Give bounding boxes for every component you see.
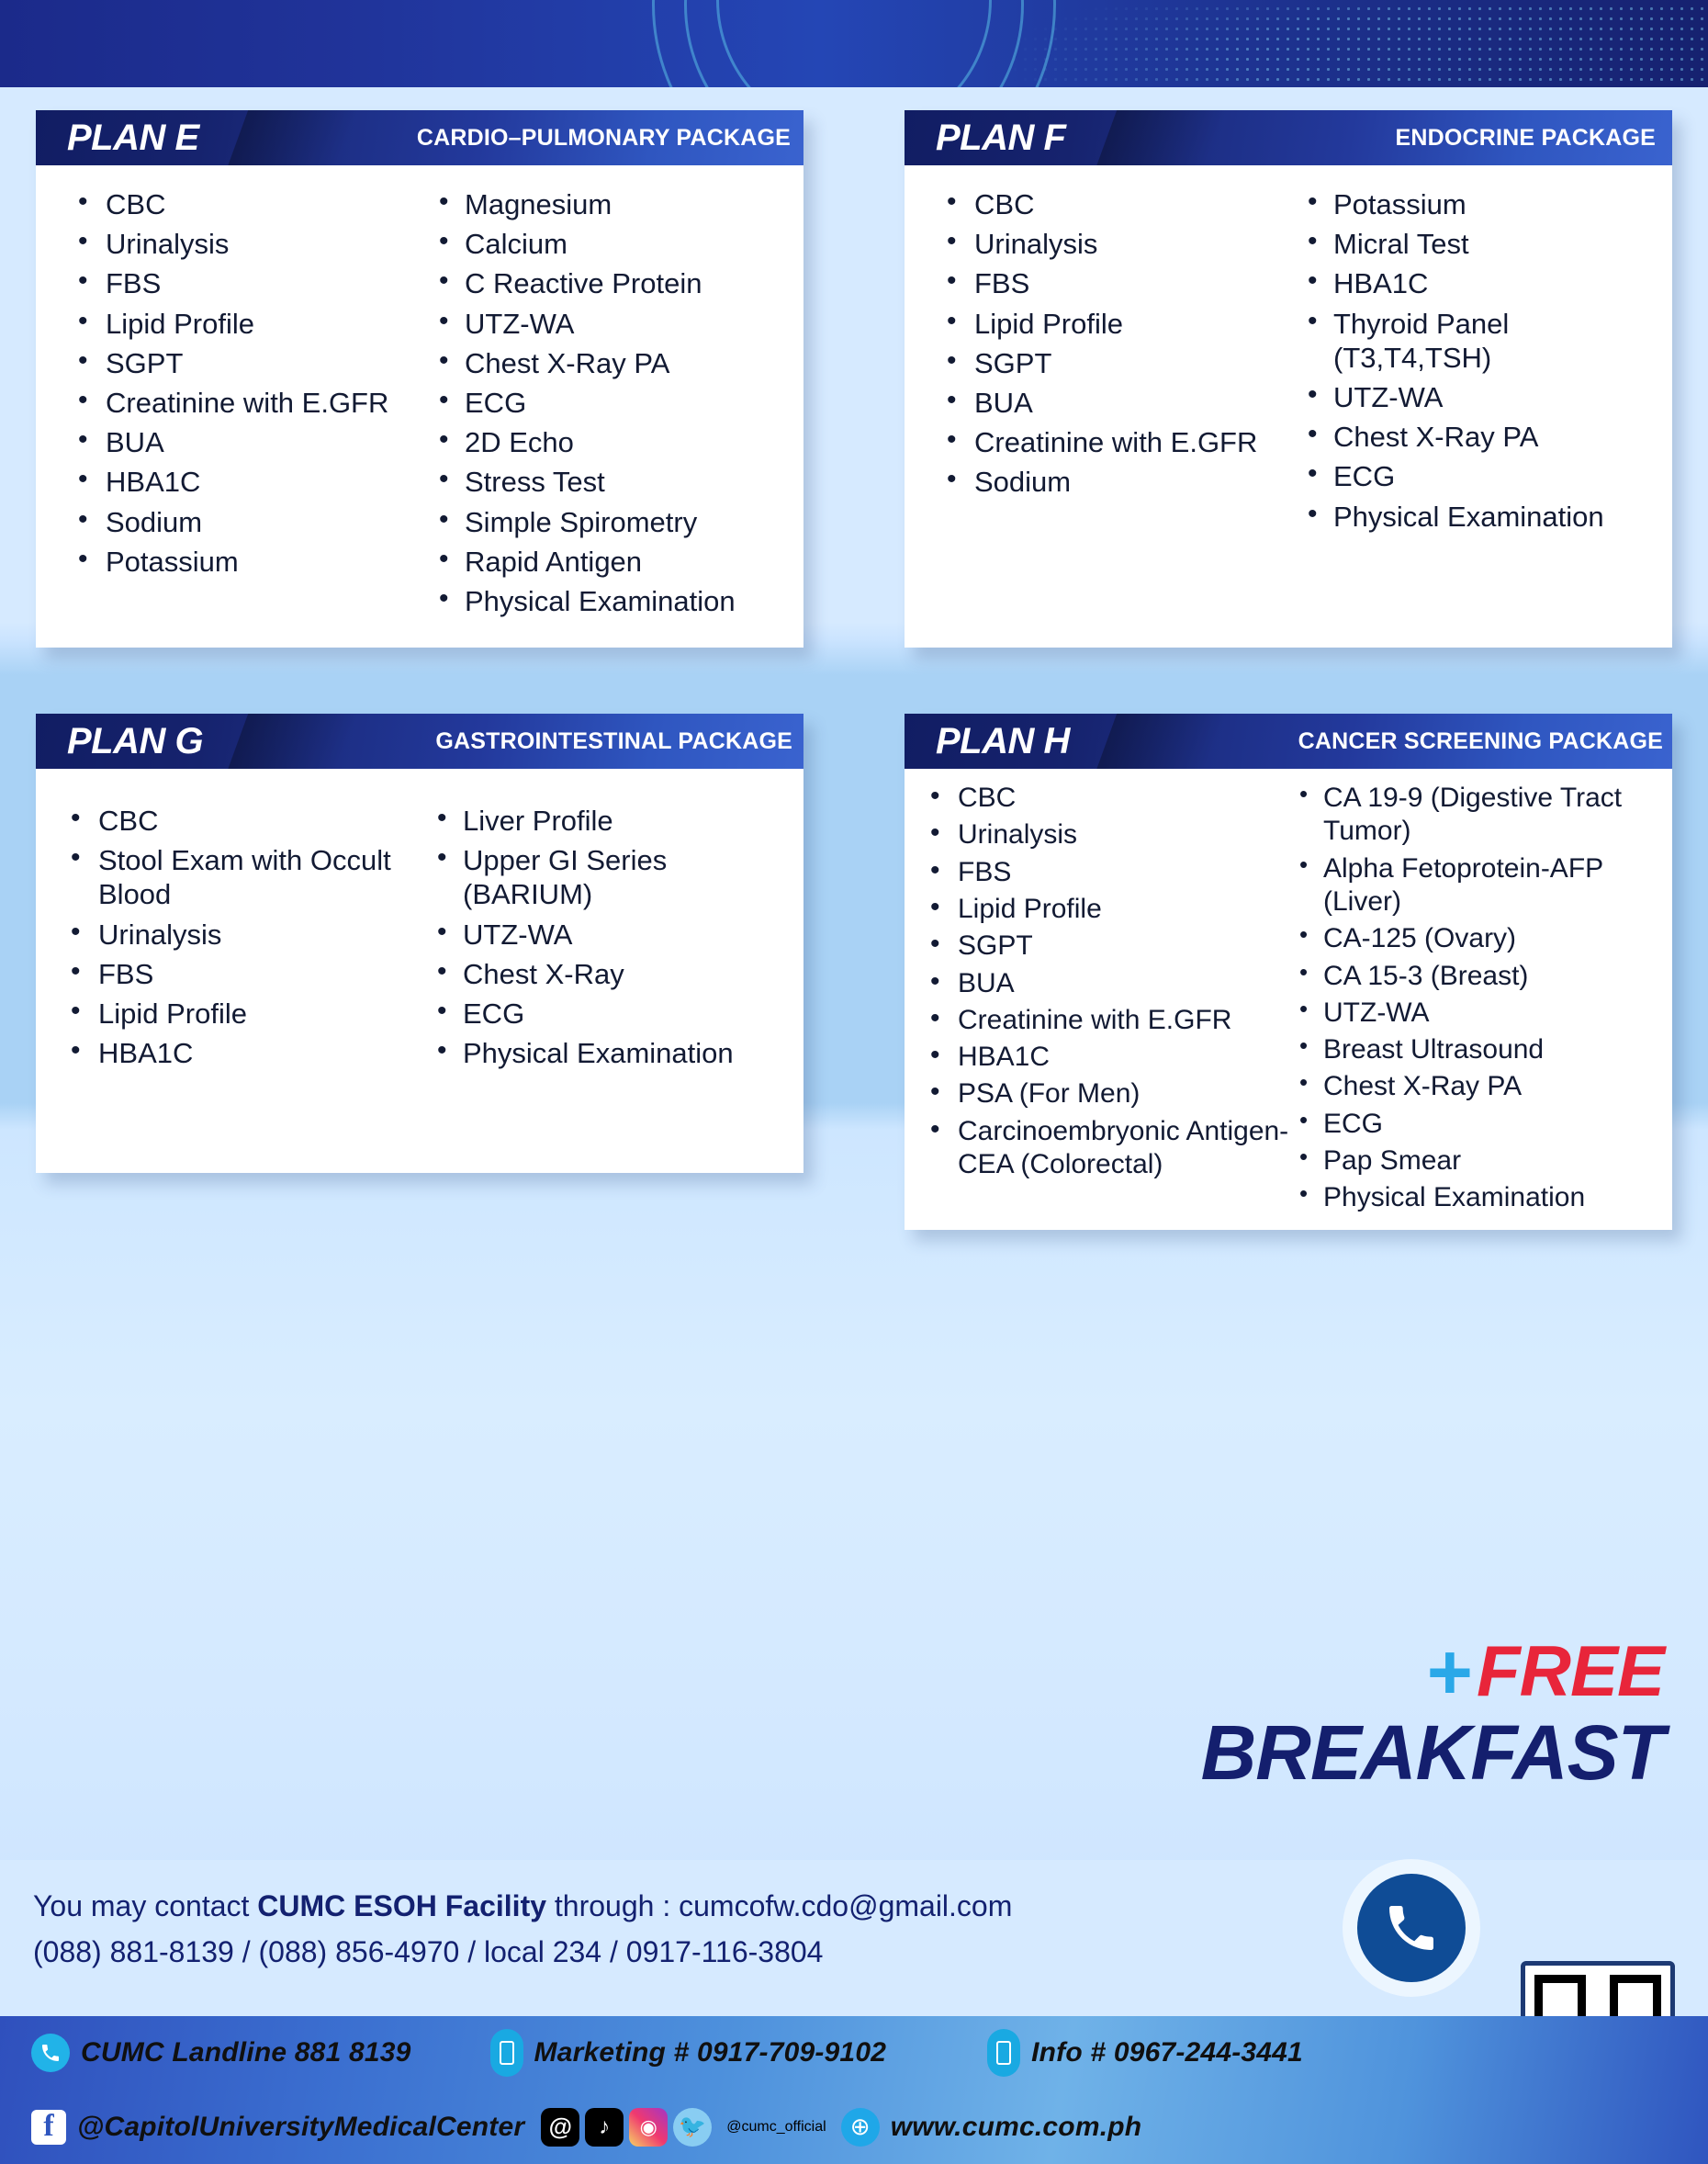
list-item: Thyroid Panel (T3,T4,TSH) [1295,307,1661,375]
plan-label: PLAN G [36,721,203,762]
list-item: BUA [928,386,1295,420]
package-body: CBC Stool Exam with Occult Blood Urinaly… [36,769,803,1099]
list-item: CA 19-9 (Digestive Tract Tumor) [1290,782,1665,849]
package-column-right: Potassium Micral Test HBA1C Thyroid Pane… [1295,187,1661,539]
list-item: Lipid Profile [916,893,1290,926]
list-item: CBC [928,187,1295,221]
arc-decoration [652,0,1056,87]
globe-icon: ⊕ [841,2108,880,2147]
package-card-plan-h[interactable]: PLAN H CANCER SCREENING PACKAGE CBC Urin… [905,714,1672,1230]
package-body: CBC Urinalysis FBS Lipid Profile SGPT BU… [905,769,1672,1230]
list-item: Carcinoembryonic Antigen-CEA (Colorectal… [916,1115,1290,1182]
list-item: HBA1C [56,1036,424,1070]
list-item: Chest X-Ray PA [1290,1070,1665,1103]
plus-icon: + [1427,1641,1473,1705]
list-item: UTZ-WA [1295,380,1661,414]
list-item: FBS [916,856,1290,889]
footer-landline[interactable]: CUMC Landline 881 8139 [31,2034,411,2072]
top-decorative-band [0,0,1708,87]
test-list-left: CBC Urinalysis FBS Lipid Profile SGPT BU… [916,782,1290,1181]
twitter-icon[interactable]: 🐦 [673,2108,712,2147]
list-item: Breast Ultrasound [1290,1033,1665,1066]
list-item: Stool Exam with Occult Blood [56,843,424,911]
package-header: PLAN G GASTROINTESTINAL PACKAGE [36,714,803,769]
test-list-right: Liver Profile Upper GI Series (BARIUM) U… [424,804,792,1070]
instagram-icon[interactable]: ◉ [629,2108,668,2147]
package-card-plan-e[interactable]: PLAN E CARDIO–PULMONARY PACKAGE CBC Urin… [36,110,803,648]
package-name-label: CANCER SCREENING PACKAGE [1298,728,1672,755]
list-item: Simple Spirometry [426,505,792,539]
footer-bar: CUMC Landline 881 8139 Marketing # 0917-… [0,2016,1708,2164]
list-item: Pap Smear [1290,1144,1665,1178]
list-item: PSA (For Men) [916,1077,1290,1110]
list-item: Urinalysis [928,227,1295,261]
list-item: Rapid Antigen [426,545,792,579]
package-column-right: Magnesium Calcium C Reactive Protein UTZ… [426,187,792,624]
list-item: ECG [1295,459,1661,493]
list-item: CBC [56,804,424,838]
package-column-right: CA 19-9 (Digestive Tract Tumor) Alpha Fe… [1290,782,1665,1219]
footer-facebook-handle: @CapitolUniversityMedicalCenter [77,2112,524,2143]
package-name-label: ENDOCRINE PACKAGE [1395,125,1672,152]
phone-icon [1382,1899,1441,1957]
list-item: CBC [916,782,1290,815]
threads-icon[interactable]: @ [541,2108,579,2147]
test-list-right: Magnesium Calcium C Reactive Protein UTZ… [426,187,792,618]
test-list-left: CBC Urinalysis FBS Lipid Profile SGPT BU… [928,187,1295,500]
free-breakfast-promo: + FREE BREAKFAST [837,1635,1664,1791]
list-item: Calcium [426,227,792,261]
tiktok-icon[interactable]: ♪ [585,2108,624,2147]
list-item: CA 15-3 (Breast) [1290,960,1665,993]
package-body: CBC Urinalysis FBS Lipid Profile SGPT Cr… [36,165,803,648]
contact-email-text: through : cumcofw.cdo@gmail.com [546,1889,1012,1922]
list-item: FBS [56,957,424,991]
list-item: BUA [916,967,1290,1000]
list-item: ECG [426,386,792,420]
footer-social-handle: @cumc_official [726,2119,826,2136]
list-item: Potassium [1295,187,1661,221]
package-column-left: CBC Urinalysis FBS Lipid Profile SGPT Cr… [60,187,426,624]
list-item: Sodium [60,505,426,539]
list-item: Physical Examination [424,1036,792,1070]
footer-marketing[interactable]: Marketing # 0917-709-9102 [490,2029,887,2077]
footer-info[interactable]: Info # 0967-244-3441 [987,2029,1303,2077]
list-item: Physical Examination [426,584,792,618]
list-item: SGPT [928,346,1295,380]
list-item: Urinalysis [56,918,424,952]
list-item: Creatinine with E.GFR [928,425,1295,459]
list-item: UTZ-WA [426,307,792,341]
phone-icon [31,2034,70,2072]
footer-row-social: f @CapitolUniversityMedicalCenter @ ♪ ◉ … [0,2090,1708,2164]
dot-pattern-decoration [1010,0,1708,87]
facebook-icon: f [31,2110,66,2145]
list-item: Lipid Profile [928,307,1295,341]
test-list-left: CBC Urinalysis FBS Lipid Profile SGPT Cr… [60,187,426,579]
footer-landline-label: CUMC Landline 881 8139 [81,2037,411,2068]
phone-badge[interactable] [1357,1874,1466,1982]
list-item: Potassium [60,545,426,579]
list-item: UTZ-WA [1290,997,1665,1030]
test-list-right: CA 19-9 (Digestive Tract Tumor) Alpha Fe… [1290,782,1665,1215]
list-item: Lipid Profile [60,307,426,341]
list-item: Lipid Profile [56,997,424,1031]
package-column-right: Liver Profile Upper GI Series (BARIUM) U… [424,804,792,1076]
packages-grid: PLAN E CARDIO–PULMONARY PACKAGE CBC Urin… [0,110,1708,1230]
package-column-left: CBC Urinalysis FBS Lipid Profile SGPT BU… [928,187,1295,539]
list-item: ECG [424,997,792,1031]
list-item: Creatinine with E.GFR [60,386,426,420]
list-item: CA-125 (Ovary) [1290,922,1665,955]
list-item: HBA1C [916,1041,1290,1074]
list-item: BUA [60,425,426,459]
plan-label: PLAN F [905,118,1065,159]
list-item: C Reactive Protein [426,266,792,300]
list-item: FBS [928,266,1295,300]
package-column-left: CBC Stool Exam with Occult Blood Urinaly… [56,804,424,1076]
list-item: ECG [1290,1108,1665,1141]
list-item: Magnesium [426,187,792,221]
package-body: CBC Urinalysis FBS Lipid Profile SGPT BU… [905,165,1672,563]
package-card-plan-f[interactable]: PLAN F ENDOCRINE PACKAGE CBC Urinalysis … [905,110,1672,648]
promo-line-1: + FREE [837,1635,1664,1707]
footer-row-phones: CUMC Landline 881 8139 Marketing # 0917-… [0,2016,1708,2090]
list-item: Upper GI Series (BARIUM) [424,843,792,911]
list-item: UTZ-WA [424,918,792,952]
plan-label: PLAN E [36,118,199,159]
list-item: Physical Examination [1295,500,1661,534]
contact-facility-name: CUMC ESOH Facility [257,1889,546,1922]
list-item: Physical Examination [1290,1181,1665,1214]
plan-label: PLAN H [905,721,1070,762]
list-item: Chest X-Ray [424,957,792,991]
list-item: Creatinine with E.GFR [916,1004,1290,1037]
package-header: PLAN H CANCER SCREENING PACKAGE [905,714,1672,769]
footer-marketing-label: Marketing # 0917-709-9102 [534,2037,887,2068]
mobile-icon [987,2029,1020,2077]
list-item: Micral Test [1295,227,1661,261]
list-item: Chest X-Ray PA [1295,420,1661,454]
package-header: PLAN F ENDOCRINE PACKAGE [905,110,1672,165]
package-name-label: GASTROINTESTINAL PACKAGE [435,728,803,755]
package-card-plan-g[interactable]: PLAN G GASTROINTESTINAL PACKAGE CBC Stoo… [36,714,803,1173]
package-column-left: CBC Urinalysis FBS Lipid Profile SGPT BU… [916,782,1290,1219]
list-item: SGPT [60,346,426,380]
promo-breakfast-label: BREAKFAST [837,1714,1664,1791]
list-item: HBA1C [60,465,426,499]
footer-facebook[interactable]: f @CapitolUniversityMedicalCenter [31,2110,524,2145]
package-header: PLAN E CARDIO–PULMONARY PACKAGE [36,110,803,165]
list-item: 2D Echo [426,425,792,459]
footer-website-label: www.cumc.com.ph [891,2112,1142,2143]
list-item: FBS [60,266,426,300]
footer-social-icons: @ ♪ ◉ 🐦 [541,2108,712,2147]
list-item: Liver Profile [424,804,792,838]
contact-line-pre: You may contact [33,1889,257,1922]
footer-info-label: Info # 0967-244-3441 [1031,2037,1303,2068]
list-item: Alpha Fetoprotein-AFP (Liver) [1290,852,1665,919]
test-list-left: CBC Stool Exam with Occult Blood Urinaly… [56,804,424,1070]
list-item: SGPT [916,930,1290,963]
test-list-right: Potassium Micral Test HBA1C Thyroid Pane… [1295,187,1661,534]
list-item: Stress Test [426,465,792,499]
package-name-label: CARDIO–PULMONARY PACKAGE [417,125,803,152]
promo-free-label: FREE [1477,1635,1664,1707]
list-item: Urinalysis [60,227,426,261]
list-item: Urinalysis [916,818,1290,851]
list-item: Chest X-Ray PA [426,346,792,380]
footer-website[interactable]: ⊕ www.cumc.com.ph [841,2108,1142,2147]
list-item: CBC [60,187,426,221]
list-item: Sodium [928,465,1295,499]
list-item: HBA1C [1295,266,1661,300]
mobile-icon [490,2029,523,2077]
